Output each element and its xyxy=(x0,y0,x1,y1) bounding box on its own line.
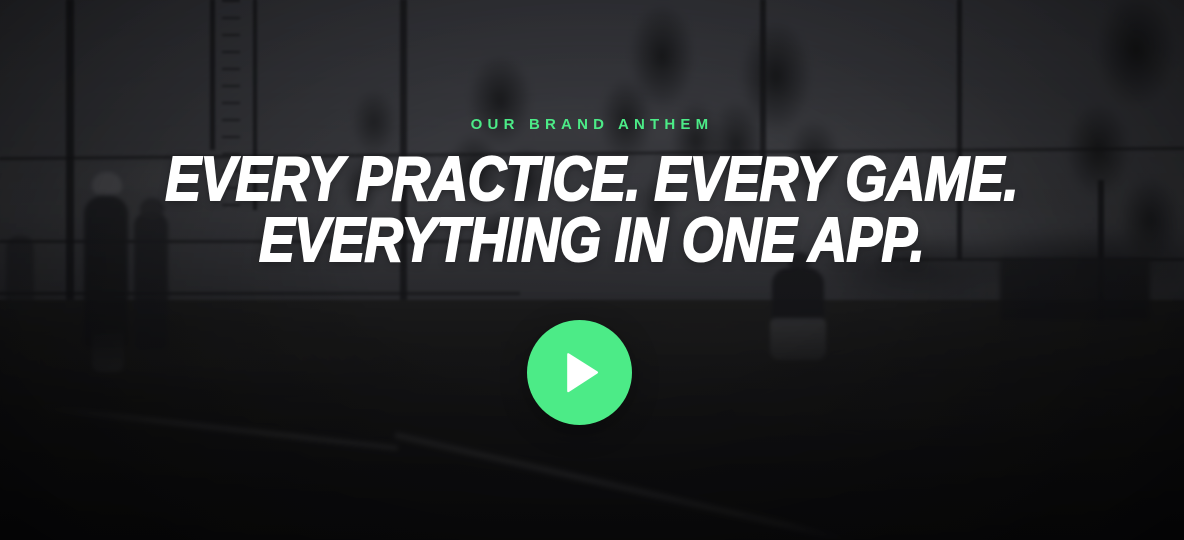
video-hero-section: OUR BRAND ANTHEM EVERY PRACTICE. EVERY G… xyxy=(0,0,1184,540)
page-title: EVERY PRACTICE. EVERY GAME. EVERYTHING I… xyxy=(166,150,1019,272)
play-icon xyxy=(559,352,600,394)
eyebrow-label: OUR BRAND ANTHEM xyxy=(471,117,714,132)
headline-line-1: EVERY PRACTICE. EVERY GAME. xyxy=(166,150,1019,211)
headline-line-2: EVERYTHING IN ONE APP. xyxy=(166,211,1019,272)
hero-content: OUR BRAND ANTHEM EVERY PRACTICE. EVERY G… xyxy=(0,0,1184,540)
play-video-button[interactable] xyxy=(527,320,632,425)
